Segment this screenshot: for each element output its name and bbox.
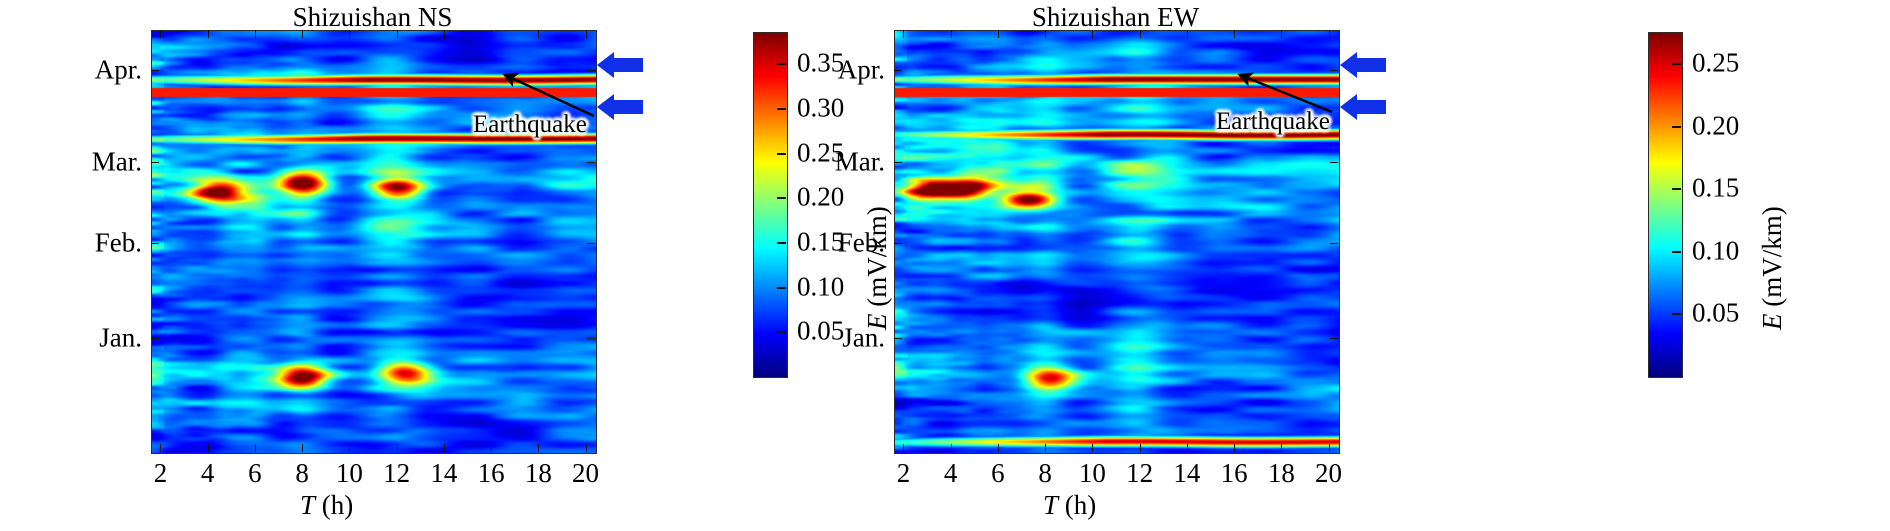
xtick-label-left-2: 2 [154, 458, 168, 489]
xtick-label-right-16: 16 [1221, 458, 1248, 489]
ytick-apr-left [151, 70, 159, 71]
colorbar-label-left-2: 0.25 [797, 137, 844, 168]
colorbar-tick-right-1 [1672, 126, 1681, 128]
xtick-top-right-4 [951, 30, 952, 38]
xtick-right-8 [1045, 444, 1046, 452]
xtick-top-left-2 [160, 30, 161, 38]
xtick-left-18 [538, 444, 539, 452]
xtick-top-right-14 [1187, 30, 1188, 38]
ytick-label-jan-left: Jan. [60, 323, 142, 354]
colorbar-tick-right-0 [1672, 63, 1681, 65]
colorbar-tick-left-0 [777, 63, 786, 65]
ytick-right-right-2 [1330, 243, 1338, 244]
colorbar-title-right: E (mV/km) [1757, 206, 1788, 330]
xtick-left-14 [444, 444, 445, 452]
ytick-label-mar-left: Mar. [60, 147, 142, 178]
xtick-label-right-8: 8 [1038, 458, 1052, 489]
xtick-right-10 [1092, 444, 1093, 452]
xtick-top-left-16 [491, 30, 492, 38]
xtick-label-right-14: 14 [1173, 458, 1200, 489]
colorbar-label-right-4: 0.05 [1692, 298, 1739, 329]
colorbar-tick-right-2 [1672, 188, 1681, 190]
xtick-left-10 [349, 444, 350, 452]
colorbar-title-left: E (mV/km) [862, 206, 893, 330]
ytick-right-right-3 [1330, 338, 1338, 339]
ytick-right-left-3 [587, 338, 595, 339]
xtick-top-left-14 [444, 30, 445, 38]
xtick-label-left-4: 4 [201, 458, 215, 489]
xtick-left-4 [208, 444, 209, 452]
colorbar-left [753, 32, 788, 378]
xaxis-label-left: T (h) [300, 490, 353, 521]
xtick-right-18 [1281, 444, 1282, 452]
ytick-apr-right [894, 70, 902, 71]
ytick-right-left-1 [587, 162, 595, 163]
xtick-label-left-10: 10 [336, 458, 363, 489]
ytick-feb-left [151, 243, 159, 244]
xtick-right-16 [1234, 444, 1235, 452]
colorbar-title-unit-left: (mV/km) [862, 206, 892, 313]
xaxis-label-symbol-left: T [300, 490, 315, 520]
xaxis-label-right: T (h) [1043, 490, 1096, 521]
ytick-mar-right [894, 162, 902, 163]
ytick-right-right-1 [1330, 162, 1338, 163]
xtick-top-left-6 [255, 30, 256, 38]
colorbar-tick-left-2 [777, 153, 786, 155]
earthquake-annotation-left: Earthquake [473, 111, 587, 139]
ytick-jan-right [894, 338, 902, 339]
ytick-label-feb-left: Feb. [60, 228, 142, 259]
blue-arrow-marker-left-1 [597, 52, 643, 78]
xtick-left-16 [491, 444, 492, 452]
colorbar-tick-left-3 [777, 197, 786, 199]
colorbar-label-right-1: 0.20 [1692, 110, 1739, 141]
xtick-label-left-8: 8 [295, 458, 309, 489]
ytick-mar-left [151, 162, 159, 163]
blue-arrow-marker-left-2 [597, 94, 643, 120]
xtick-top-right-20 [1329, 30, 1330, 38]
figure-root: Shizuishan NS Apr. Mar. Feb. Jan. T (h) … [0, 0, 1890, 531]
colorbar-tick-left-4 [777, 242, 786, 244]
panel-title-right: Shizuishan EW [893, 2, 1338, 33]
xtick-label-left-14: 14 [430, 458, 457, 489]
xtick-label-right-10: 10 [1079, 458, 1106, 489]
blue-arrow-marker-right-1 [1340, 52, 1386, 78]
xtick-top-left-10 [349, 30, 350, 38]
xtick-right-6 [998, 444, 999, 452]
xtick-top-right-18 [1281, 30, 1282, 38]
xtick-label-right-12: 12 [1126, 458, 1153, 489]
colorbar-canvas-right [1649, 33, 1682, 377]
xtick-label-left-18: 18 [525, 458, 552, 489]
xtick-label-left-16: 16 [478, 458, 505, 489]
colorbar-title-symbol-right: E [1757, 314, 1787, 331]
xtick-left-20 [586, 444, 587, 452]
xtick-label-right-18: 18 [1268, 458, 1295, 489]
xtick-right-4 [951, 444, 952, 452]
blue-arrow-marker-right-2 [1340, 94, 1386, 120]
colorbar-label-left-0: 0.35 [797, 48, 844, 79]
xaxis-label-unit-right: (h) [1058, 490, 1096, 520]
colorbar-title-unit-right: (mV/km) [1757, 206, 1787, 313]
colorbar-right [1648, 32, 1683, 378]
xtick-top-left-20 [586, 30, 587, 38]
colorbar-label-left-1: 0.30 [797, 92, 844, 123]
xaxis-label-symbol-right: T [1043, 490, 1058, 520]
xtick-label-right-20: 20 [1315, 458, 1342, 489]
colorbar-canvas-left [754, 33, 787, 377]
xtick-label-right-6: 6 [991, 458, 1005, 489]
xtick-left-8 [302, 444, 303, 452]
colorbar-label-left-4: 0.15 [797, 226, 844, 257]
xtick-left-2 [160, 444, 161, 452]
colorbar-label-left-6: 0.05 [797, 316, 844, 347]
xtick-right-12 [1140, 444, 1141, 452]
colorbar-label-right-0: 0.25 [1692, 48, 1739, 79]
xaxis-label-unit-left: (h) [315, 490, 353, 520]
ytick-jan-left [151, 338, 159, 339]
xtick-label-left-20: 20 [572, 458, 599, 489]
colorbar-label-right-3: 0.10 [1692, 235, 1739, 266]
xtick-top-left-4 [208, 30, 209, 38]
xtick-top-left-18 [538, 30, 539, 38]
colorbar-tick-left-6 [777, 331, 786, 333]
xtick-label-left-6: 6 [248, 458, 262, 489]
xtick-left-12 [397, 444, 398, 452]
colorbar-tick-right-4 [1672, 313, 1681, 315]
colorbar-label-left-5: 0.10 [797, 271, 844, 302]
colorbar-tick-left-1 [777, 108, 786, 110]
xtick-top-right-2 [903, 30, 904, 38]
panel-title-left: Shizuishan NS [150, 2, 595, 33]
colorbar-tick-left-5 [777, 287, 786, 289]
xtick-top-right-12 [1140, 30, 1141, 38]
earthquake-annotation-right: Earthquake [1216, 108, 1330, 136]
colorbar-tick-right-3 [1672, 251, 1681, 253]
xtick-label-right-4: 4 [944, 458, 958, 489]
xtick-top-right-8 [1045, 30, 1046, 38]
colorbar-label-right-2: 0.15 [1692, 173, 1739, 204]
ytick-right-left-2 [587, 243, 595, 244]
xtick-right-14 [1187, 444, 1188, 452]
xtick-top-right-10 [1092, 30, 1093, 38]
xtick-top-right-16 [1234, 30, 1235, 38]
xtick-label-right-2: 2 [897, 458, 911, 489]
xtick-right-20 [1329, 444, 1330, 452]
colorbar-label-left-3: 0.20 [797, 182, 844, 213]
xtick-left-6 [255, 444, 256, 452]
xtick-right-2 [903, 444, 904, 452]
xtick-top-left-12 [397, 30, 398, 38]
ytick-label-apr-left: Apr. [60, 55, 142, 86]
xtick-top-right-6 [998, 30, 999, 38]
ytick-feb-right [894, 243, 902, 244]
xtick-top-left-8 [302, 30, 303, 38]
xtick-label-left-12: 12 [383, 458, 410, 489]
